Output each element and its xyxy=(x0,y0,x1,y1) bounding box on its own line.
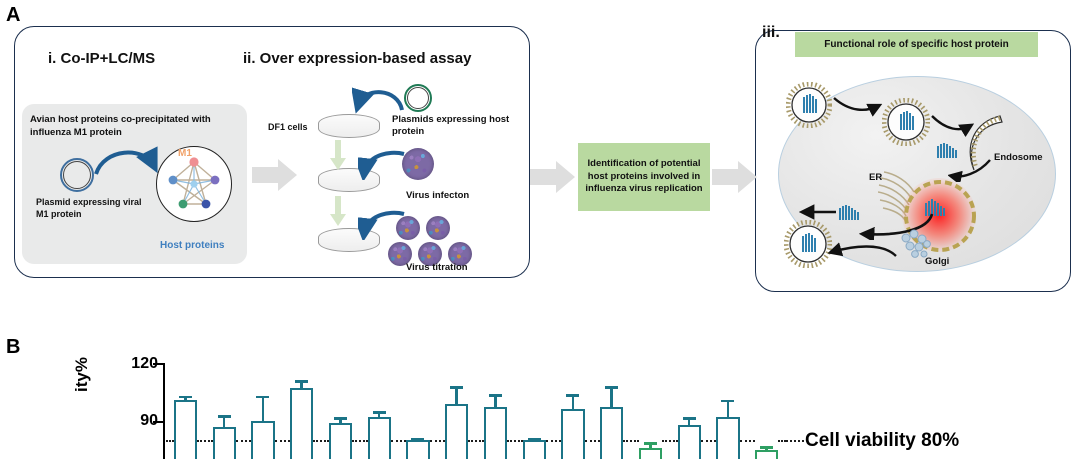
threshold-line-segment xyxy=(313,440,329,442)
error-bar-cap xyxy=(411,438,424,441)
chart-bar xyxy=(329,423,352,459)
threshold-line-segment xyxy=(623,440,639,442)
error-bar xyxy=(262,396,265,421)
error-bar-cap xyxy=(566,394,579,397)
plasmids-host-protein-label: Plasmids expressing host protein xyxy=(392,114,512,139)
vrnp-icon xyxy=(838,204,864,222)
threshold-line-segment xyxy=(507,440,523,442)
threshold-line-segment xyxy=(166,440,174,442)
arrow-icon xyxy=(798,204,840,220)
threshold-line-segment xyxy=(391,440,407,442)
y-tick-label-90: 90 xyxy=(108,412,158,430)
error-bar-cap xyxy=(528,438,541,441)
threshold-line-tail xyxy=(786,440,804,442)
chart-bar xyxy=(600,407,623,459)
error-bar-cap xyxy=(605,386,618,389)
error-bar-cap xyxy=(450,386,463,389)
down-arrow-icon xyxy=(330,196,346,226)
chart-bar xyxy=(290,388,313,459)
error-bar xyxy=(727,400,730,417)
arrow-icon xyxy=(832,92,884,118)
curved-arrow-icon xyxy=(358,150,410,180)
cell-viability-annotation: Cell viability 80% xyxy=(805,430,959,452)
threshold-line-segment xyxy=(778,440,786,442)
error-bar-cap xyxy=(334,417,347,420)
step-iii-numeral: iii. xyxy=(762,24,780,42)
curved-arrow-icon xyxy=(358,210,410,240)
threshold-line-segment xyxy=(701,440,717,442)
chart-bar xyxy=(406,440,429,459)
virus-titration-label: Virus titration xyxy=(406,262,468,274)
y-tick-label-120: 120 xyxy=(108,355,158,373)
threshold-line-segment xyxy=(740,440,756,442)
error-bar-cap xyxy=(256,396,269,399)
block-arrow-icon xyxy=(530,160,576,194)
error-bar-cap xyxy=(644,442,657,445)
m1-network-label: M1 xyxy=(178,148,192,159)
step-ii-title: ii. Over expression-based assay xyxy=(243,50,471,67)
error-bar-cap xyxy=(295,380,308,383)
chart-bar xyxy=(755,450,778,459)
plasmid-m1-caption: Plasmid expressing viral M1 protein xyxy=(36,196,146,220)
threshold-line-segment xyxy=(197,440,213,442)
block-arrow-icon xyxy=(712,160,758,194)
error-bar-cap xyxy=(760,446,773,449)
identification-box: Identification of potential host protein… xyxy=(578,143,710,211)
threshold-line-segment xyxy=(275,440,291,442)
protein-network-graph-icon xyxy=(156,146,232,222)
functional-role-text: Functional role of specific host protein xyxy=(824,39,1008,50)
coip-caption: Avian host proteins co-precipitated with… xyxy=(30,114,242,140)
virion-icon xyxy=(786,82,832,128)
er-label: ER xyxy=(869,172,882,183)
error-bar-cap xyxy=(179,396,192,399)
y-axis-tick xyxy=(153,421,164,423)
chart-bar xyxy=(445,404,468,459)
threshold-line-segment xyxy=(468,440,484,442)
error-bar-cap xyxy=(721,400,734,403)
functional-role-banner: Functional role of specific host protein xyxy=(795,32,1038,57)
arrow-icon xyxy=(826,240,902,266)
endosome-label: Endosome xyxy=(994,152,1043,163)
threshold-line-segment xyxy=(352,440,368,442)
chart-bar xyxy=(716,417,739,459)
curved-arrow-icon xyxy=(352,84,412,116)
y-axis-label: ity% xyxy=(72,357,92,392)
endocytic-vesicle-icon xyxy=(882,98,930,146)
step-i-title: i. Co-IP+LC/MS xyxy=(48,50,155,67)
host-proteins-label: Host proteins xyxy=(160,240,224,251)
panel-letter-a: A xyxy=(6,4,20,27)
error-bar-cap xyxy=(218,415,231,418)
golgi-label: Golgi xyxy=(925,256,949,267)
threshold-line-segment xyxy=(585,440,601,442)
culture-plate-icon xyxy=(318,114,380,138)
error-bar xyxy=(455,386,458,403)
virus-infection-label: Virus infecton xyxy=(406,190,469,202)
block-arrow-icon xyxy=(252,158,298,192)
chart-bar xyxy=(484,407,507,459)
chart-bar xyxy=(251,421,274,459)
curved-arrow-icon xyxy=(92,142,166,182)
virus-particle-icon xyxy=(426,216,450,240)
threshold-line-segment xyxy=(236,440,252,442)
error-bar-cap xyxy=(489,394,502,397)
chart-bar xyxy=(639,448,662,459)
y-axis-tick xyxy=(153,363,164,365)
error-bar xyxy=(610,386,613,407)
down-arrow-icon xyxy=(330,140,346,170)
df1-cells-label: DF1 cells xyxy=(268,122,308,132)
chart-bar xyxy=(174,400,197,459)
chart-bar xyxy=(368,417,391,459)
chart-bar xyxy=(678,425,701,459)
threshold-line-segment xyxy=(546,440,562,442)
identification-text: Identification of potential host protein… xyxy=(578,158,710,196)
chart-bar xyxy=(213,427,236,459)
threshold-line-segment xyxy=(662,440,678,442)
error-bar-cap xyxy=(373,411,386,414)
plasmid-ring-inner-icon xyxy=(63,161,91,189)
chart-bar xyxy=(523,440,546,459)
threshold-line-segment xyxy=(430,440,446,442)
chart-bar xyxy=(561,409,584,459)
chart-plot-area xyxy=(166,352,786,459)
virion-icon xyxy=(784,220,832,268)
error-bar-cap xyxy=(683,417,696,420)
